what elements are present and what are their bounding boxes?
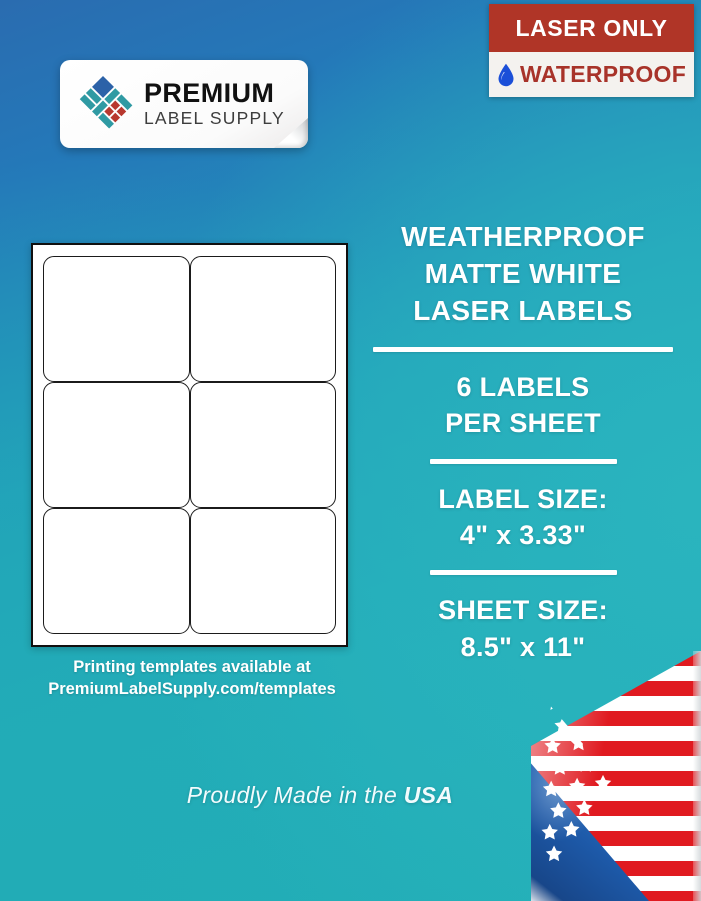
templates-note-line2: PremiumLabelSupply.com/templates [14, 678, 370, 700]
label-size-value: 4" x 3.33" [358, 517, 688, 553]
labels-per-sheet-line2: PER SHEET [358, 405, 688, 441]
labels-per-sheet: 6 LABELS PER SHEET [358, 369, 688, 442]
product-heading-line2: MATTE WHITE [358, 255, 688, 292]
brand-name-primary: PREMIUM [144, 80, 285, 107]
label-cell [43, 382, 190, 508]
label-cell [190, 508, 337, 634]
divider [373, 347, 673, 352]
label-cell [43, 508, 190, 634]
waterproof-label: WATERPROOF [520, 61, 686, 88]
labels-per-sheet-line1: 6 LABELS [358, 369, 688, 405]
laser-only-label: LASER ONLY [515, 15, 667, 42]
usa-flag-page-curl [531, 651, 701, 901]
water-drop-icon [497, 62, 515, 88]
product-image-canvas: LASER ONLY WATERPROOF [0, 0, 701, 901]
label-cell [190, 256, 337, 382]
made-in-usa-emphasis: USA [404, 782, 453, 808]
brand-wordmark: PREMIUM LABEL SUPPLY [144, 80, 285, 128]
brand-logo-card: PREMIUM LABEL SUPPLY [60, 60, 308, 148]
divider [430, 459, 617, 464]
compatibility-badge: LASER ONLY WATERPROOF [489, 4, 694, 97]
templates-note-line1: Printing templates available at [14, 656, 370, 678]
brand-name-secondary: LABEL SUPPLY [144, 110, 285, 128]
label-sheet-preview [31, 243, 348, 647]
waterproof-banner: WATERPROOF [489, 52, 694, 97]
templates-note: Printing templates available at PremiumL… [14, 656, 370, 701]
product-heading: WEATHERPROOF MATTE WHITE LASER LABELS [358, 218, 688, 330]
label-cell [43, 256, 190, 382]
page-edge [693, 651, 701, 901]
laser-only-banner: LASER ONLY [489, 4, 694, 52]
label-cell [190, 382, 337, 508]
made-in-usa-prefix: Proudly Made in the [187, 782, 404, 808]
label-size-title: LABEL SIZE: [358, 481, 688, 517]
product-heading-line3: LASER LABELS [358, 292, 688, 329]
product-spec-panel: WEATHERPROOF MATTE WHITE LASER LABELS 6 … [358, 218, 688, 665]
divider [430, 570, 617, 575]
sheet-size-title: SHEET SIZE: [358, 592, 688, 628]
product-heading-line1: WEATHERPROOF [358, 218, 688, 255]
label-size-spec: LABEL SIZE: 4" x 3.33" [358, 481, 688, 554]
diamond-grid-logo-icon [72, 73, 134, 135]
label-grid [43, 256, 336, 634]
